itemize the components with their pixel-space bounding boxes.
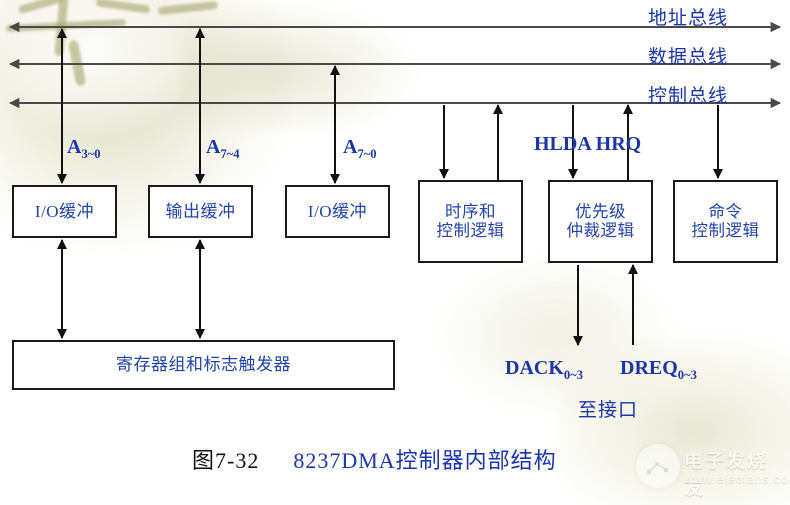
block-register-flipflops[interactable]: 寄存器组和标志触发器	[12, 340, 395, 390]
block-label-line2: 控制逻辑	[437, 222, 505, 240]
signal-label-dack: DACK0~3	[505, 357, 583, 383]
signal-label-a7-4: A7~4	[206, 136, 240, 162]
signal-sub: 0~3	[564, 368, 583, 382]
signal-label-a7-0: A7~0	[343, 136, 377, 162]
block-label-line2: 仲裁逻辑	[567, 222, 635, 240]
block-label: I/O缓冲	[308, 202, 367, 221]
signal-base: DACK	[505, 357, 564, 379]
block-label-line1: 优先级	[567, 203, 635, 221]
signal-sub: 7~0	[357, 147, 376, 161]
block-label: 寄存器组和标志触发器	[116, 355, 291, 374]
signal-label-to-interface: 至接口	[578, 395, 638, 422]
figure-canvas: 地址总线 数据总线 控制总线 A3~0 A7~4 A7~0 HLDA HRQ D…	[0, 0, 790, 505]
signal-label-hlda-hrq: HLDA HRQ	[534, 133, 641, 156]
signal-base: A	[343, 136, 357, 158]
block-output-buffer[interactable]: 输出缓冲	[148, 185, 253, 238]
signal-base: DREQ	[620, 357, 678, 379]
block-label-line1: 命令	[692, 203, 760, 221]
block-label-line1: 时序和	[437, 203, 505, 221]
signal-sub: 0~3	[678, 368, 697, 382]
data-bus-label: 数据总线	[648, 42, 728, 69]
block-command-control[interactable]: 命令 控制逻辑	[673, 180, 778, 263]
connector-layer	[0, 0, 790, 505]
block-io-buffer-low[interactable]: I/O缓冲	[12, 185, 117, 238]
block-priority-arbiter[interactable]: 优先级 仲裁逻辑	[548, 180, 653, 263]
signal-sub: 7~4	[220, 147, 239, 161]
signal-label-dreq: DREQ0~3	[620, 357, 697, 383]
figure-caption: 图7-32 8237DMA控制器内部结构	[192, 443, 557, 475]
address-bus-label: 地址总线	[648, 3, 728, 30]
block-label: I/O缓冲	[35, 202, 94, 221]
block-label: 输出缓冲	[166, 202, 236, 221]
caption-number: 图7-32	[192, 448, 259, 473]
signal-label-a3-0: A3~0	[67, 136, 101, 162]
block-label-line2: 控制逻辑	[692, 222, 760, 240]
block-timing-control[interactable]: 时序和 控制逻辑	[418, 180, 523, 263]
signal-base: A	[67, 136, 81, 158]
block-io-buffer-data[interactable]: I/O缓冲	[285, 185, 390, 238]
caption-title: 8237DMA控制器内部结构	[293, 448, 556, 473]
signal-sub: 3~0	[81, 147, 100, 161]
control-bus-label: 控制总线	[648, 81, 728, 108]
signal-base: A	[206, 136, 220, 158]
